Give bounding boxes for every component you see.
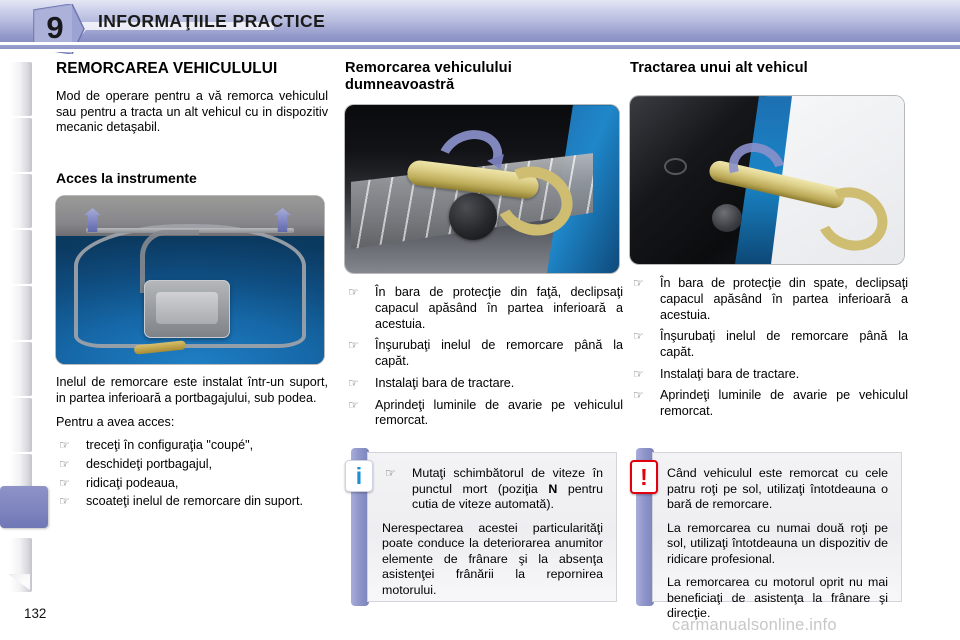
middle-section-title: Remorcarea vehiculului dumneavoastră (345, 60, 623, 94)
pointing-hand-icon: ☞ (59, 438, 70, 454)
trunk-photo-roof-mechanism (144, 280, 230, 338)
warning-exclamation-icon: ! (630, 460, 658, 494)
middle-bullet-list: ☞ În bara de protecţie din faţă, declips… (345, 285, 623, 429)
pointing-hand-icon: ☞ (348, 376, 359, 392)
list-item: ☞ Aprindeţi luminile de avarie pe vehicu… (630, 388, 908, 419)
chapter-tab-3[interactable] (10, 174, 32, 228)
pointing-hand-icon: ☞ (633, 276, 644, 292)
list-item: ☞ Instalaţi bara de tractare. (630, 367, 908, 383)
page-title: INFORMAŢIILE PRACTICE (98, 11, 325, 32)
warning-callout-body: Când vehiculul este remorcat cu cele pat… (652, 452, 902, 602)
info-callout-box: ☞ Mutaţi schimbătorul de viteze în punct… (345, 448, 617, 606)
list-item-label: Aprindeţi luminile de avarie pe vehiculu… (375, 398, 623, 428)
page-header-bar: 9 INFORMAŢIILE PRACTICE (0, 0, 960, 42)
info-callout-list: ☞ Mutaţi schimbătorul de viteze în punct… (382, 466, 603, 513)
list-item: ☞ Înşurubaţi inelul de remorcare până la… (345, 338, 623, 369)
list-item-label: treceţi în configuraţia "coupé", (86, 438, 253, 452)
rear-photo-removed-cover (712, 204, 742, 232)
list-item-label: Mutaţi schimbătorul de viteze în punctul… (412, 466, 603, 511)
chapter-tab-2[interactable] (10, 118, 32, 172)
pointing-hand-icon: ☞ (59, 457, 70, 473)
list-item-label: În bara de protecţie din faţă, declipsaţ… (375, 285, 623, 330)
list-item: ☞ deschideţi portbagajul, (56, 457, 328, 473)
list-item-label: Instalaţi bara de tractare. (375, 376, 514, 390)
left-bullet-list: ☞ treceţi în configuraţia "coupé", ☞ des… (56, 438, 328, 510)
rear-photo-sensor-hole (664, 158, 687, 175)
chapter-tab-6[interactable] (10, 342, 32, 396)
list-item: ☞ În bara de protecţie din spate, declip… (630, 276, 908, 323)
trunk-towing-ring-photo (56, 196, 324, 364)
list-item-label: scoateţi inelul de remorcare din suport. (86, 494, 303, 508)
list-item: ☞ Instalaţi bara de tractare. (345, 376, 623, 392)
list-item-label: Înşurubaţi inelul de remorcare până la c… (660, 329, 908, 359)
chapter-tab-9-active[interactable] (0, 486, 48, 528)
pointing-hand-icon: ☞ (633, 329, 644, 345)
list-item-label: deschideţi portbagajul, (86, 457, 212, 471)
list-item: ☞ treceţi în configuraţia "coupé", (56, 438, 328, 454)
warning-callout-box: Când vehiculul este remorcat cu cele pat… (630, 448, 902, 606)
pointing-hand-icon: ☞ (59, 494, 70, 510)
right-bullet-list: ☞ În bara de protecţie din spate, declip… (630, 276, 908, 420)
page-number: 132 (24, 606, 46, 621)
chapter-tab-strip (10, 62, 32, 604)
list-item: ☞ ridicaţi podeaua, (56, 476, 328, 492)
left-sub-title: Acces la instrumente (56, 170, 328, 187)
info-i-icon: i (345, 460, 373, 492)
warning-callout-paragraph-1: Când vehiculul este remorcat cu cele pat… (667, 466, 888, 513)
pointing-hand-icon: ☞ (59, 476, 70, 492)
list-item-label: ridicaţi podeaua, (86, 476, 178, 490)
left-content-column: REMORCAREA VEHICULULUI Mod de operare pe… (56, 60, 328, 513)
gearbox-neutral-label: N (548, 482, 557, 496)
list-item: ☞ Aprindeţi luminile de avarie pe vehicu… (345, 398, 623, 429)
chapter-tab-5[interactable] (10, 286, 32, 340)
middle-content-column: Remorcarea vehiculului dumneavoastră ☞ Î… (345, 60, 623, 435)
right-section-title: Tractarea unui alt vehicul (630, 60, 908, 77)
front-photo-removed-cover (449, 193, 497, 240)
list-item-label: Înşurubaţi inelul de remorcare până la c… (375, 338, 623, 368)
info-callout-paragraph: Nerespectarea acestei particularităţi po… (382, 521, 603, 599)
pointing-hand-icon: ☞ (633, 367, 644, 383)
left-intro-paragraph: Mod de operare pentru a vă remorca vehic… (56, 89, 328, 136)
chapter-tab-1[interactable] (10, 62, 32, 116)
list-item: ☞ Mutaţi schimbătorul de viteze în punct… (382, 466, 603, 513)
front-bumper-tow-hook-photo (345, 105, 619, 273)
list-item: ☞ În bara de protecţie din faţă, declips… (345, 285, 623, 332)
pointing-hand-icon: ☞ (348, 398, 359, 414)
info-callout-body: ☞ Mutaţi schimbătorul de viteze în punct… (367, 452, 617, 602)
rear-bumper-tow-hook-photo (630, 96, 904, 264)
site-watermark: carmanualsonline.info (672, 616, 837, 635)
left-paragraph-2: Pentru a avea acces: (56, 415, 328, 431)
warning-callout-paragraph-2: La remorcarea cu numai două roţi pe sol,… (667, 521, 888, 568)
pointing-hand-icon: ☞ (385, 466, 396, 482)
left-paragraph-1: Inelul de remorcare este instalat într-u… (56, 375, 328, 406)
list-item: ☞ scoateţi inelul de remorcare din supor… (56, 494, 328, 510)
left-section-title: REMORCAREA VEHICULULUI (56, 60, 328, 78)
right-content-column: Tractarea unui alt vehicul ☞ În bara de … (630, 60, 908, 426)
header-divider-white-2 (0, 49, 960, 52)
chapter-tab-7[interactable] (10, 398, 32, 452)
pointing-hand-icon: ☞ (348, 285, 359, 301)
pointing-hand-icon: ☞ (633, 388, 644, 404)
list-item: ☞ Înşurubaţi inelul de remorcare până la… (630, 329, 908, 360)
chapter-tab-4[interactable] (10, 230, 32, 284)
list-item-label: În bara de protecţie din spate, declipsa… (660, 276, 908, 321)
pointing-hand-icon: ☞ (348, 338, 359, 354)
warning-callout-paragraph-3: La remorcarea cu motorul oprit nu mai be… (667, 575, 888, 622)
list-item-label: Instalaţi bara de tractare. (660, 367, 799, 381)
list-item-label: Aprindeţi luminile de avarie pe vehiculu… (660, 388, 908, 418)
